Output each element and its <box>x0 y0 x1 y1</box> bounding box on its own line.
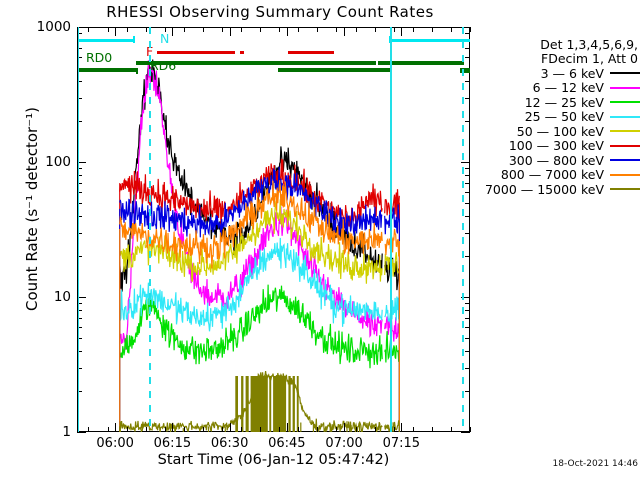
y-tick-right <box>465 318 470 319</box>
vline-left-edge <box>78 27 80 432</box>
flare-bar-1 <box>157 51 235 54</box>
legend-item-swatch <box>610 174 640 176</box>
legend-item-swatch <box>610 87 640 89</box>
x-tick-top <box>470 27 471 32</box>
x-tick-top <box>432 27 433 32</box>
x-tick <box>222 427 223 432</box>
legend-item-swatch <box>610 145 640 147</box>
flare-bar-3 <box>288 51 334 54</box>
x-tick <box>165 427 166 432</box>
legend-item-swatch <box>610 116 640 118</box>
x-tick-top <box>394 27 395 32</box>
legend-item: 100 — 300 keV <box>476 139 640 154</box>
x-tick-major-top <box>287 27 288 36</box>
saa-spike <box>251 376 268 432</box>
y-tick-right <box>465 168 470 169</box>
saa-baseline-tick <box>300 423 301 433</box>
y-tick-right <box>465 256 470 257</box>
night-bar-left <box>78 39 135 42</box>
y-tick-right <box>465 303 470 304</box>
plot-canvas: RHESSI Observing Summary Count Rates Cou… <box>0 0 640 480</box>
legend-item: 800 — 7000 keV <box>476 168 640 183</box>
x-tick <box>470 427 471 432</box>
x-tick-top <box>241 27 242 32</box>
x-tick-major-top <box>401 27 402 36</box>
legend-item-label: 7000 — 15000 keV <box>485 182 604 197</box>
x-tick <box>317 427 318 432</box>
y-tick-right <box>465 351 470 352</box>
y-tick-right <box>465 175 470 176</box>
chart-title: RHESSI Observing Summary Count Rates <box>0 3 540 21</box>
x-tick-top <box>317 27 318 32</box>
x-tick <box>375 427 376 432</box>
legend-item: 12 — 25 keV <box>476 95 640 110</box>
vline-dashed-right <box>462 27 464 432</box>
x-tick-top <box>375 27 376 32</box>
y-tick-right <box>465 183 470 184</box>
y-tick-right <box>465 121 470 122</box>
x-tick <box>298 427 299 432</box>
saa-spike <box>293 376 295 432</box>
saa-baseline-tick <box>141 429 142 432</box>
x-tick-top <box>222 27 223 32</box>
x-tick-top <box>279 27 280 32</box>
saa-baseline-tick <box>346 421 347 432</box>
rd0-label: RD0 <box>86 50 112 65</box>
legend-item-label: 800 — 7000 keV <box>501 167 604 182</box>
x-tick <box>241 427 242 432</box>
x-tick <box>336 427 337 432</box>
x-tick-major <box>115 423 116 432</box>
legend-item-label: 25 — 50 keV <box>525 109 604 124</box>
saa-spike <box>269 376 271 432</box>
x-tick <box>184 427 185 432</box>
y-tick-right <box>465 192 470 193</box>
saa-spike <box>246 376 249 432</box>
legend-item-label: 50 — 100 keV <box>517 124 604 139</box>
saa-spike <box>241 376 243 432</box>
x-tick-major <box>401 423 402 432</box>
x-tick <box>356 427 357 432</box>
legend-item-label: 6 — 12 keV <box>533 80 604 95</box>
x-tick-top <box>298 27 299 32</box>
saa-baseline-tick <box>170 426 171 432</box>
y-tick-right <box>465 233 470 234</box>
x-tick-major <box>230 423 231 432</box>
legend-item-label: 3 — 6 keV <box>541 66 604 81</box>
x-tick <box>88 427 89 432</box>
flare-bar-2 <box>240 51 244 54</box>
y-axis-title: Count Rate (s⁻¹ detector⁻¹) <box>23 0 41 419</box>
x-tick-top <box>108 27 109 32</box>
rd0-bar-2 <box>288 61 376 65</box>
legend-item-label: 100 — 300 keV <box>509 138 604 153</box>
saa-baseline-tick <box>351 425 352 432</box>
vline-dashed-flare-start <box>149 27 151 432</box>
x-tick <box>260 427 261 432</box>
saa-baseline-tick <box>313 422 314 432</box>
generation-timestamp: 18-Oct-2021 14:46 <box>520 459 638 469</box>
rd6-bar-2 <box>278 68 390 72</box>
x-tick <box>146 427 147 432</box>
x-tick-major-top <box>115 27 116 36</box>
x-tick <box>432 427 433 432</box>
y-tick-right <box>465 338 470 339</box>
plot-area <box>77 27 470 432</box>
x-tick-major-top <box>230 27 231 36</box>
x-tick-major-top <box>172 27 173 36</box>
legend-entries: 3 — 6 keV6 — 12 keV12 — 25 keV25 — 50 ke… <box>476 66 640 197</box>
series-svg <box>77 27 470 432</box>
saa-baseline-tick <box>330 424 331 432</box>
legend-item: 25 — 50 keV <box>476 110 640 125</box>
night-label: N <box>160 31 169 46</box>
y-axis-tick-label: 100 <box>0 154 71 170</box>
saa-spike <box>235 376 238 432</box>
legend-item-label: 12 — 25 keV <box>525 95 604 110</box>
night-bar-left-tick <box>133 36 135 43</box>
legend-item-label: 300 — 800 keV <box>509 153 604 168</box>
x-tick-top <box>413 27 414 32</box>
saa-baseline-tick <box>275 421 276 432</box>
y-tick-right <box>465 368 470 369</box>
legend: Det 1,3,4,5,6,9, FDecim 1, Att 0 3 — 6 k… <box>476 38 640 197</box>
legend-item: 7000 — 15000 keV <box>476 182 640 197</box>
x-tick-top <box>260 27 261 32</box>
y-tick-right <box>465 310 470 311</box>
y-tick-right <box>465 391 470 392</box>
x-tick <box>203 427 204 432</box>
legend-item: 6 — 12 keV <box>476 81 640 96</box>
x-tick-major-top <box>344 27 345 36</box>
rd6-bar-1 <box>78 68 136 72</box>
x-tick-top <box>184 27 185 32</box>
night-bar-right <box>390 39 470 42</box>
legend-item-swatch <box>610 188 640 190</box>
rd6-bar-tick <box>136 68 138 74</box>
x-axis-tick-label: 06:15 <box>142 436 202 451</box>
legend-item: 300 — 800 keV <box>476 153 640 168</box>
saa-baseline-tick <box>120 421 121 432</box>
legend-item-swatch <box>610 130 640 132</box>
saa-baseline-tick <box>283 421 284 432</box>
saa-baseline-tick <box>174 428 175 432</box>
y-tick <box>77 432 86 433</box>
saa-spike <box>288 376 290 432</box>
x-tick <box>127 427 128 432</box>
x-tick-top <box>146 27 147 32</box>
y-tick-right <box>465 81 470 82</box>
x-tick <box>451 427 452 432</box>
x-tick <box>108 427 109 432</box>
x-tick-major <box>344 423 345 432</box>
saa-baseline-tick <box>359 423 360 432</box>
legend-header-detectors: Det 1,3,4,5,6,9, <box>476 38 640 52</box>
x-axis-tick-label: 07:00 <box>314 436 374 451</box>
y-tick-right <box>465 216 470 217</box>
rd6-label: RD6 <box>150 58 176 73</box>
y-tick-right <box>465 98 470 99</box>
x-tick-top <box>336 27 337 32</box>
x-tick-major <box>287 423 288 432</box>
legend-item: 50 — 100 keV <box>476 124 640 139</box>
x-axis-tick-label: 06:45 <box>257 436 317 451</box>
saa-baseline-tick <box>325 426 326 432</box>
y-tick-right <box>465 33 470 34</box>
x-tick-top <box>88 27 89 32</box>
x-axis-tick-label: 07:15 <box>371 436 431 451</box>
y-tick-right <box>465 48 470 49</box>
x-axis-tick-label: 06:30 <box>200 436 260 451</box>
saa-spike <box>297 376 299 432</box>
legend-item-swatch <box>610 101 640 103</box>
legend-item-swatch <box>610 72 640 74</box>
y-axis-tick-label: 1 <box>0 424 71 440</box>
x-tick <box>279 427 280 432</box>
x-axis-title: Start Time (06-Jan-12 05:47:42) <box>77 452 470 468</box>
x-tick <box>394 427 395 432</box>
y-tick-right <box>461 432 470 433</box>
y-axis-tick-label: 10 <box>0 289 71 305</box>
legend-header-decimation: FDecim 1, Att 0 <box>476 52 640 66</box>
vline-night-start <box>390 27 392 432</box>
y-tick-right <box>465 327 470 328</box>
legend-item-swatch <box>610 159 640 161</box>
y-tick-right <box>465 57 470 58</box>
x-tick-top <box>356 27 357 32</box>
saa-baseline-tick <box>208 426 209 432</box>
legend-item: 3 — 6 keV <box>476 66 640 81</box>
saa-baseline-tick <box>225 426 226 432</box>
x-tick <box>413 427 414 432</box>
y-tick-right <box>465 203 470 204</box>
x-tick-top <box>127 27 128 32</box>
y-axis-tick-label: 1000 <box>0 19 71 35</box>
x-tick-top <box>451 27 452 32</box>
x-tick-top <box>203 27 204 32</box>
x-axis-tick-label: 06:00 <box>85 436 145 451</box>
x-tick-major <box>172 423 173 432</box>
